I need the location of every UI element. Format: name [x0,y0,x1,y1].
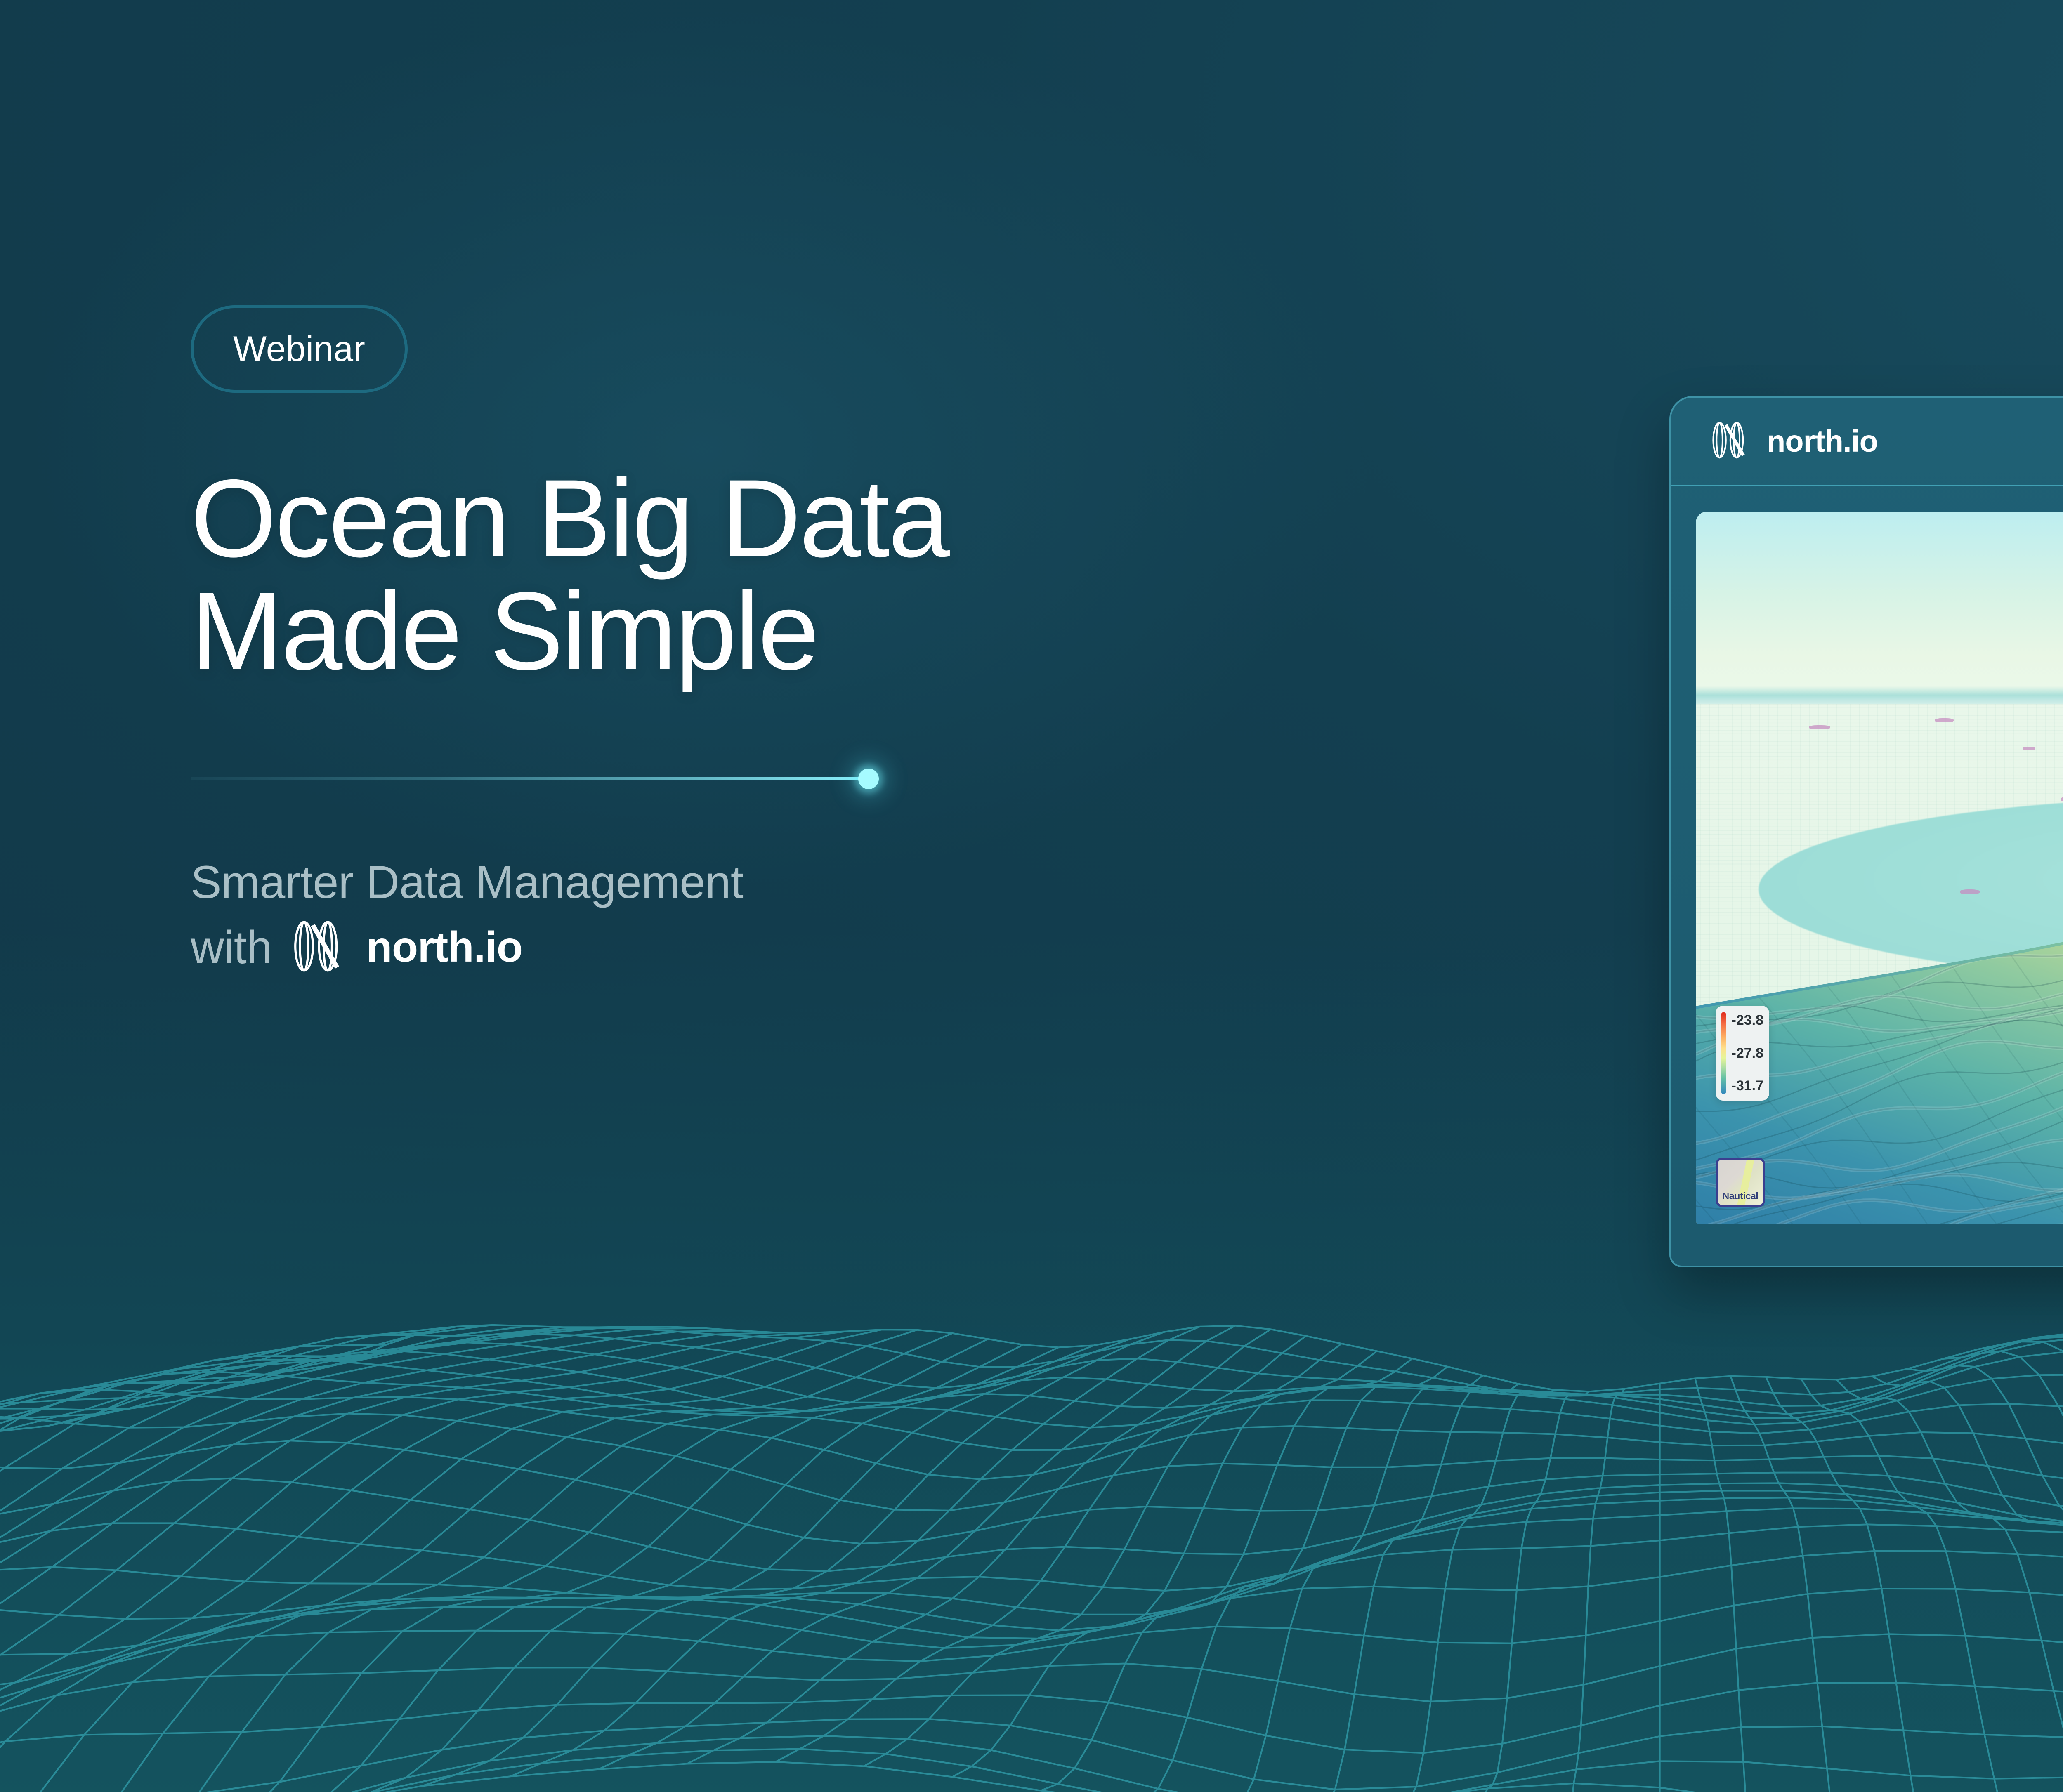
hero-with-brand: with north.io [191,920,1511,975]
window-brand-label: north.io [1767,424,1878,459]
basemap-label: Nautical [1722,1191,1758,1205]
north-io-wordmark: north.io [366,923,522,972]
with-label: with [191,921,272,974]
north-io-logo: north.io [292,920,522,975]
colorbar-tick-bottom: -31.7 [1732,1078,1764,1094]
scene-speck [1809,725,1830,729]
window-brand: north.io [1711,421,1878,461]
colorbar-gradient [1721,1012,1726,1094]
divider-glow-dot [858,769,879,789]
colorbar-ticks: -23.8 -27.8 -31.7 [1732,1012,1764,1094]
divider-line [191,777,876,780]
scene-speck [1935,718,1954,722]
map-3d-viewport[interactable]: -23.8 -27.8 -31.7 Nautical [1696,512,2063,1224]
hero-content: Webinar Ocean Big Data Made Simple Smart… [191,305,1511,975]
elevation-colorbar-legend: -23.8 -27.8 -31.7 [1716,1006,1769,1101]
scene-speck [2023,747,2035,750]
basemap-switcher-thumbnail[interactable]: Nautical [1716,1158,1765,1207]
north-io-mark-icon [292,920,354,975]
window-titlebar: north.io [1671,398,2063,486]
colorbar-tick-middle: -27.8 [1732,1045,1764,1061]
app-window: north.io [1669,396,2063,1267]
divider [191,766,896,791]
hero-subtitle: Smarter Data Management [191,849,1511,915]
colorbar-tick-top: -23.8 [1732,1012,1764,1028]
webinar-badge[interactable]: Webinar [191,305,408,393]
page-title: Ocean Big Data Made Simple [191,462,1511,688]
window-logo-icon [1711,421,1755,461]
scene-sky [1696,512,2063,697]
